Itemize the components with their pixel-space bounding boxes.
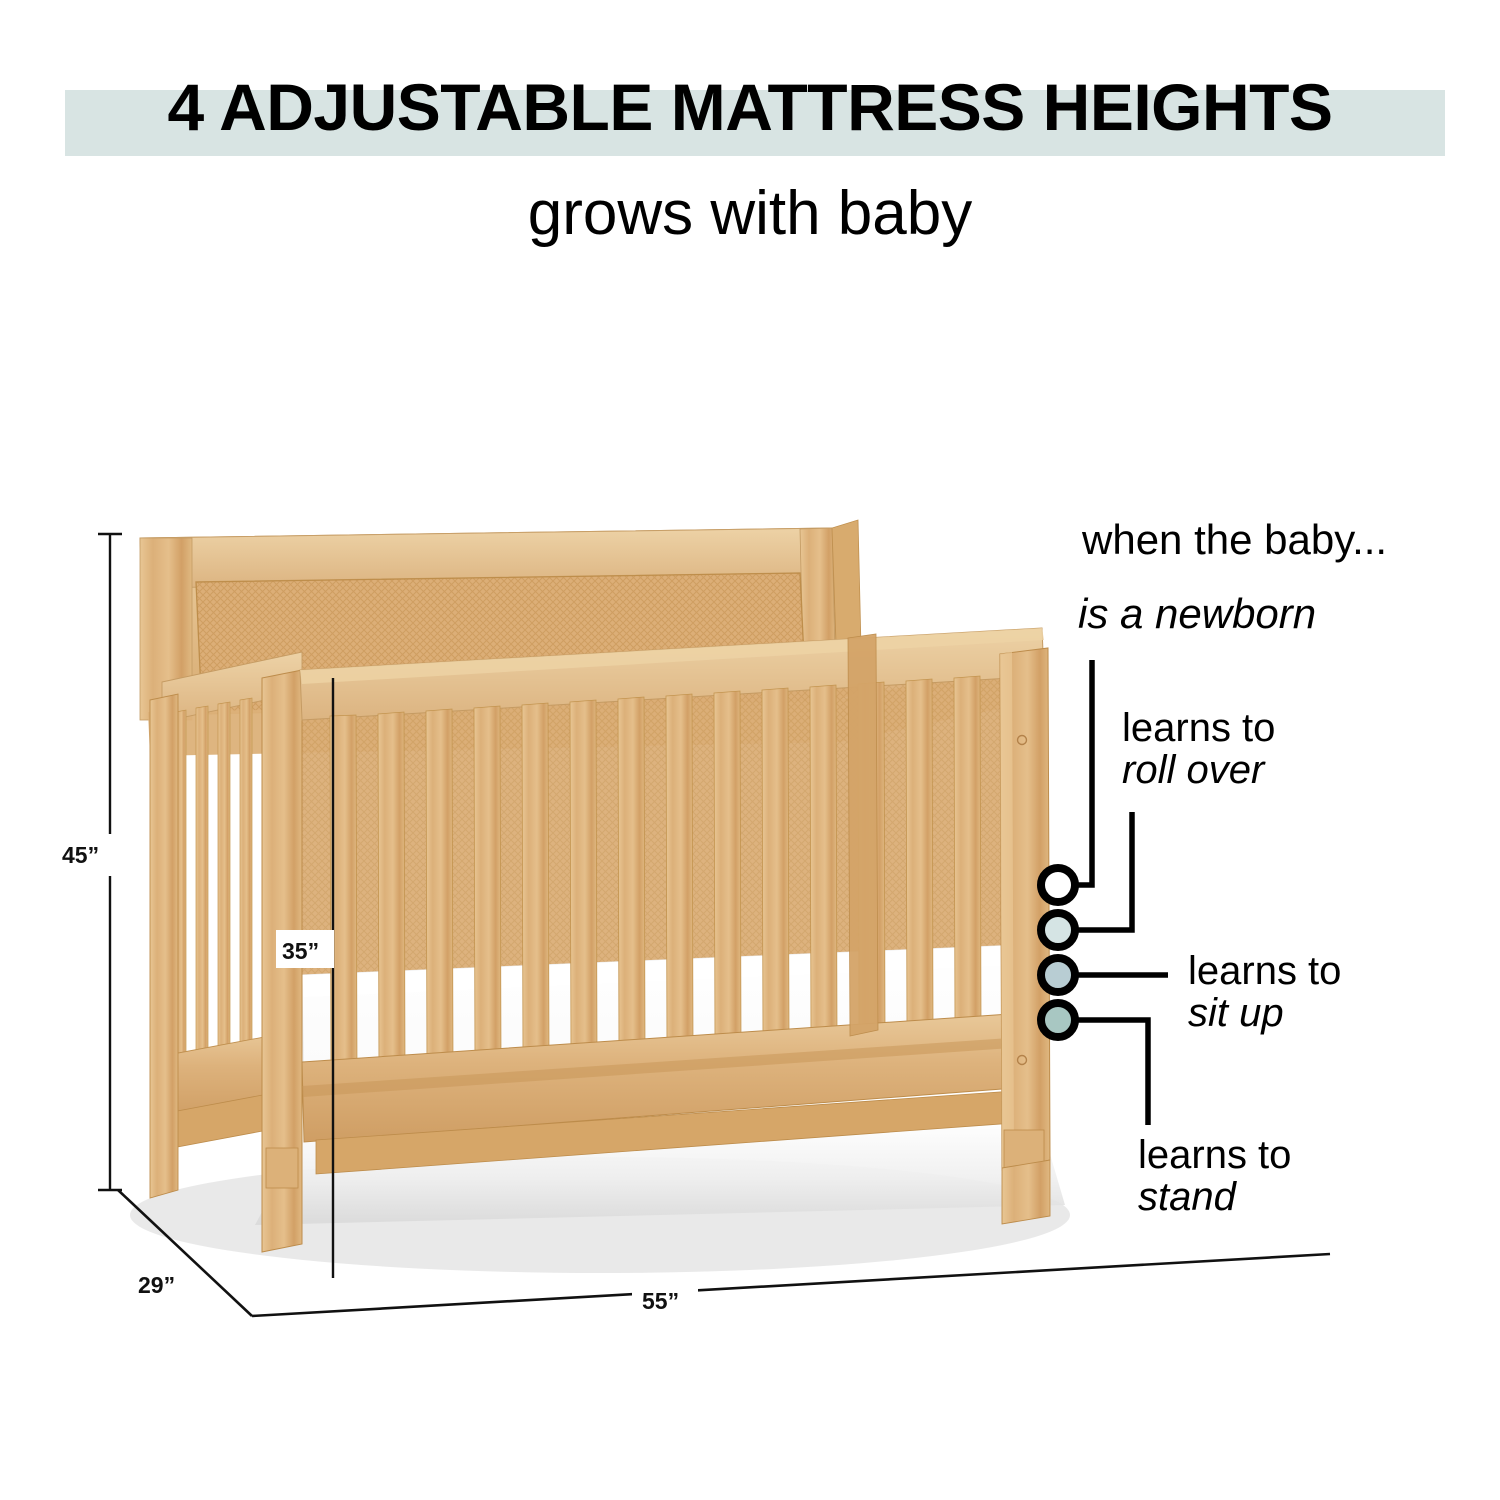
annotation-level-2-prefix: learns to bbox=[1122, 707, 1275, 749]
annotation-intro: when the baby... bbox=[1082, 518, 1387, 563]
annotation-level-1: is a newborn bbox=[1078, 592, 1316, 637]
annotation-level-2: learns to roll over bbox=[1122, 707, 1275, 792]
annotation-level-2-emphasis: roll over bbox=[1122, 749, 1275, 791]
mattress-level-dot-1[interactable] bbox=[1041, 868, 1075, 902]
annotation-level-4: learns to stand bbox=[1138, 1134, 1291, 1219]
mattress-level-dot-4[interactable] bbox=[1041, 1003, 1075, 1037]
mattress-level-dot-3[interactable] bbox=[1041, 958, 1075, 992]
annotation-intro-text: when the baby... bbox=[1082, 518, 1387, 563]
annotation-level-3-prefix: learns to bbox=[1188, 950, 1341, 992]
annotation-level-3: learns to sit up bbox=[1188, 950, 1341, 1035]
annotation-level-3-emphasis: sit up bbox=[1188, 992, 1341, 1034]
infographic-canvas: 4 ADJUSTABLE MATTRESS HEIGHTS grows with… bbox=[0, 0, 1500, 1500]
annotation-level-1-emphasis: is a newborn bbox=[1078, 592, 1316, 637]
annotation-level-4-emphasis: stand bbox=[1138, 1176, 1291, 1218]
annotation-level-4-prefix: learns to bbox=[1138, 1134, 1291, 1176]
mattress-level-dot-2[interactable] bbox=[1041, 913, 1075, 947]
